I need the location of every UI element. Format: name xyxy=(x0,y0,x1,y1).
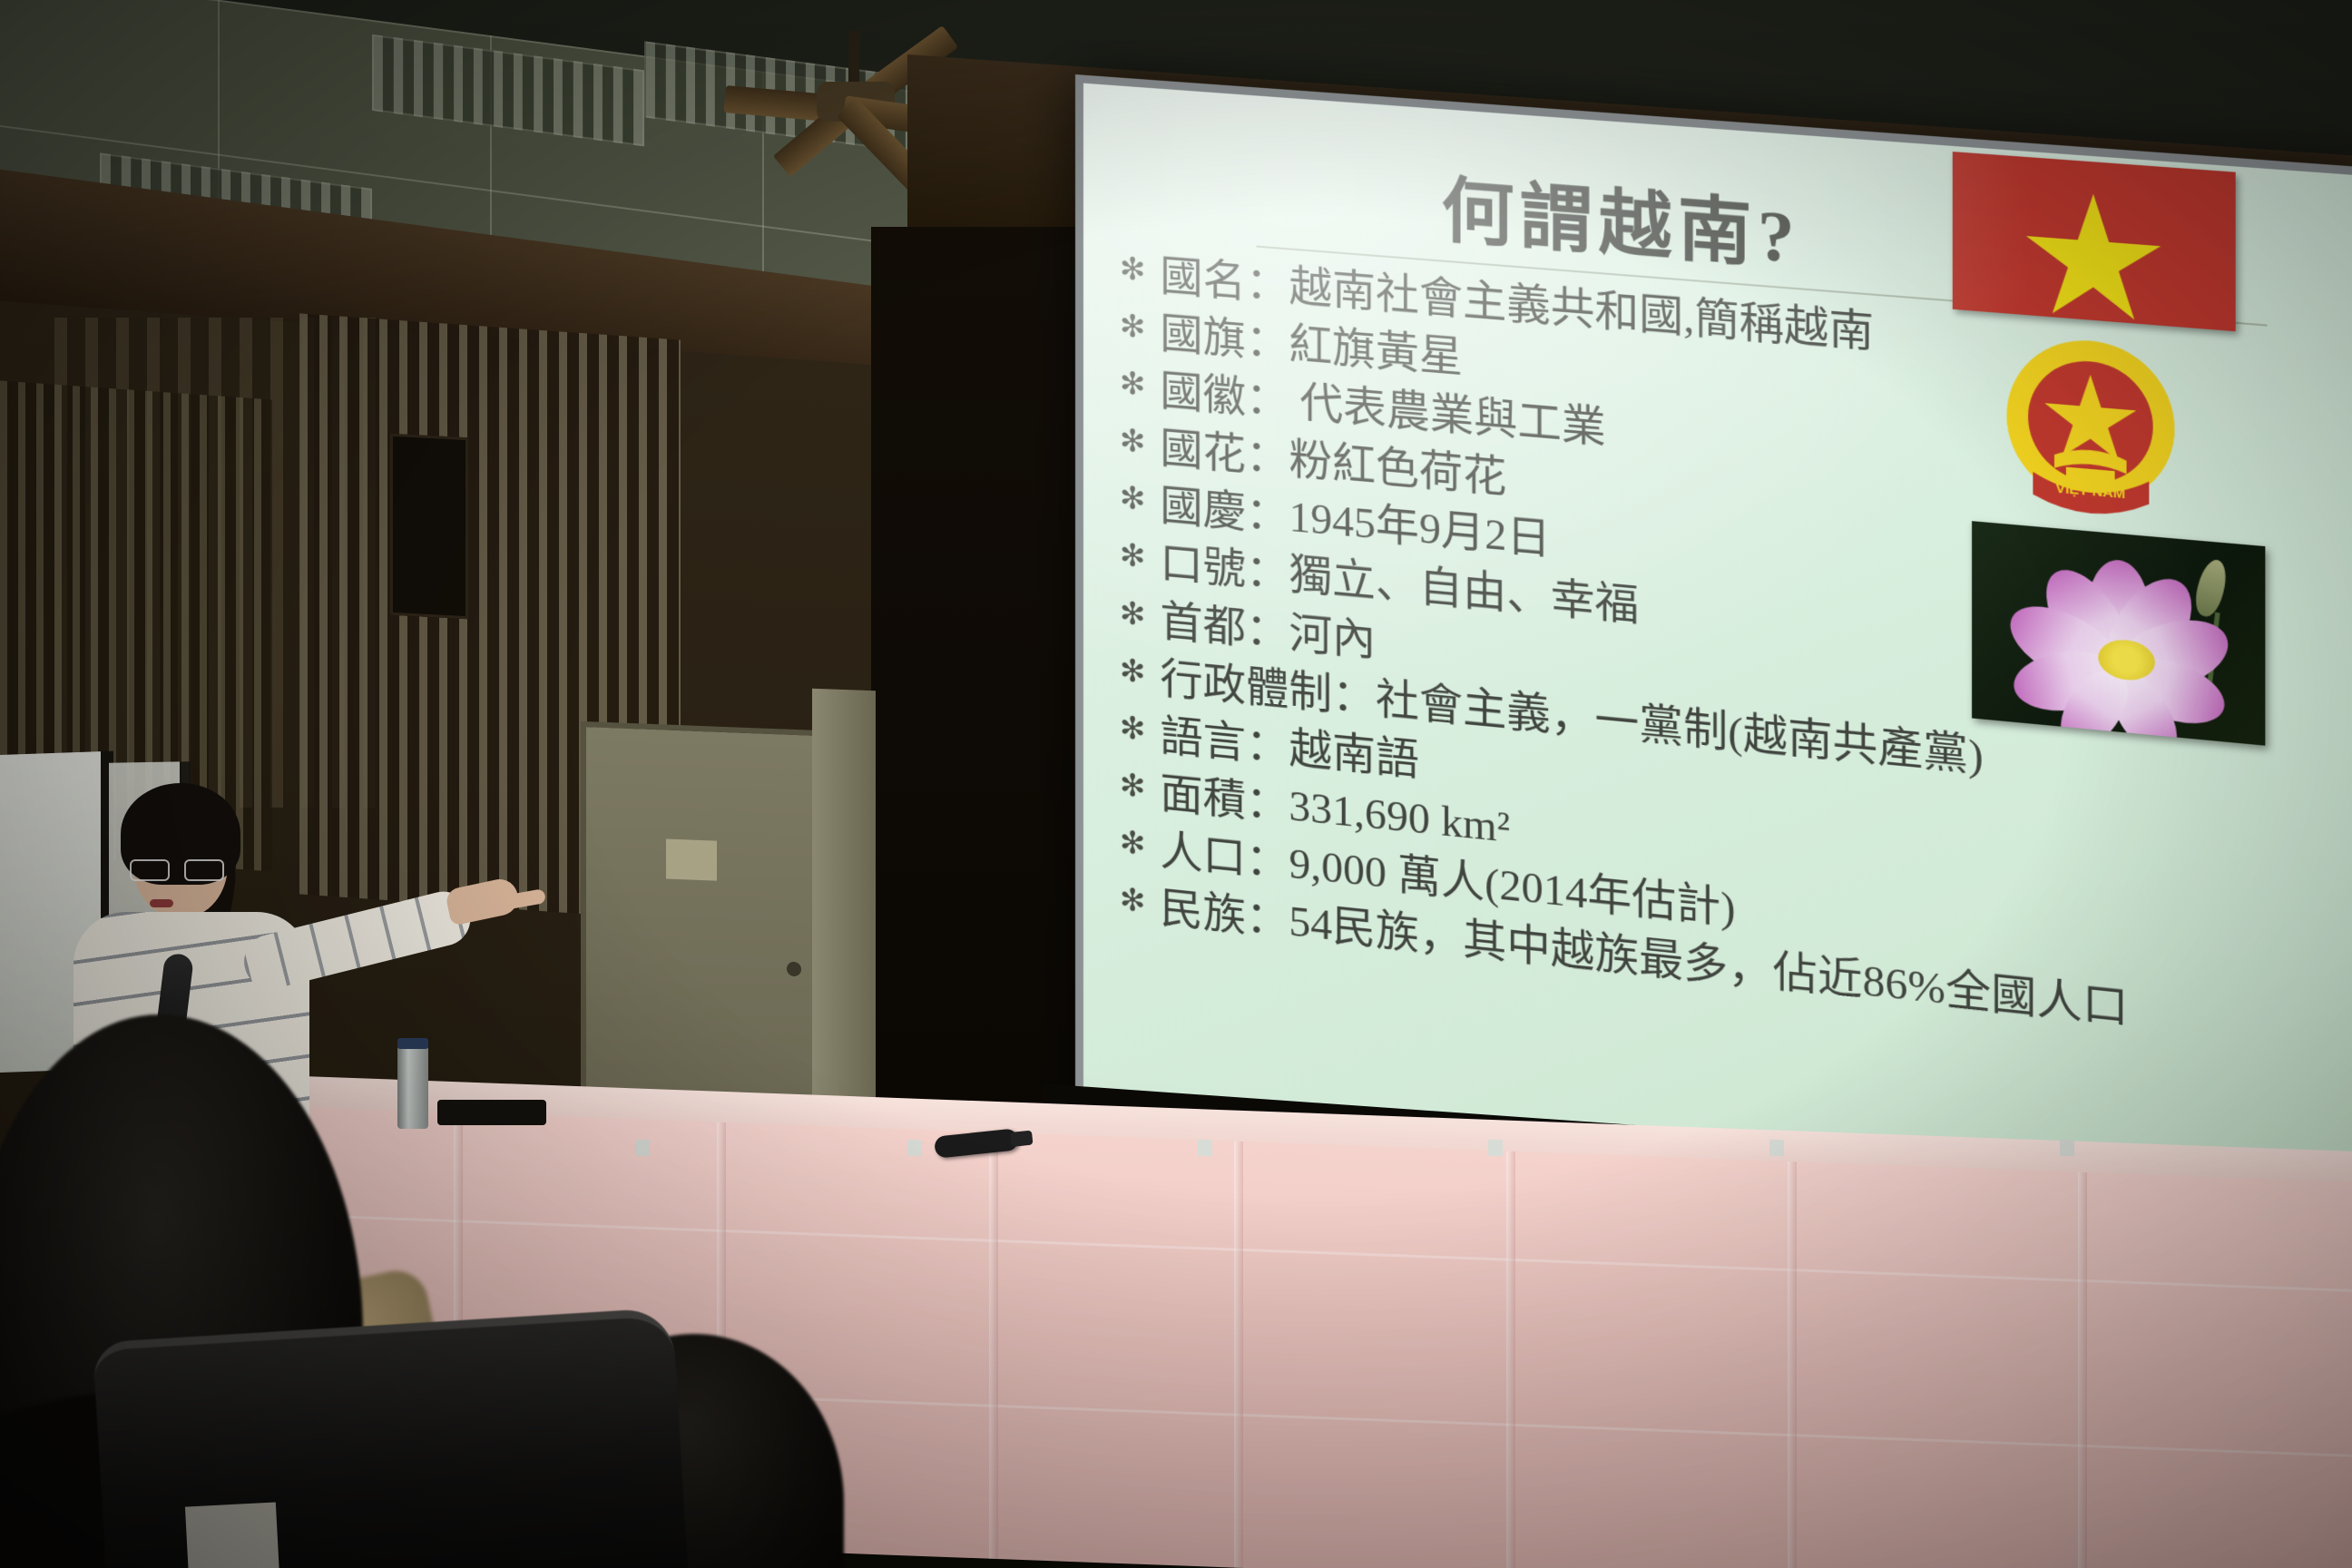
bullet-icon: ✻ xyxy=(1120,417,1146,467)
bullet-icon: ✻ xyxy=(1120,590,1146,640)
presenter-pointing-arm xyxy=(239,886,476,995)
lecture-hall-photo: 何謂越南? ✻國名：越南社會主義共和國,簡稱越南 ✻國旗：紅旗黃星 ✻國徽： 代… xyxy=(0,0,2352,1568)
vietnam-emblem-image: VIỆT NAM xyxy=(1986,327,2196,533)
side-door[interactable] xyxy=(581,721,821,1130)
bullet-icon: ✻ xyxy=(1120,762,1146,813)
door-knob-icon[interactable] xyxy=(787,962,801,977)
wall-speaker-icon xyxy=(390,434,468,620)
bullet-icon: ✻ xyxy=(1120,819,1146,870)
bullet-icon: ✻ xyxy=(1120,533,1146,583)
chair-seat-label xyxy=(185,1502,279,1568)
emblem-icon: VIỆT NAM xyxy=(1986,327,2196,533)
vietnam-flag-image xyxy=(1953,152,2236,331)
door-jamb xyxy=(812,689,876,1144)
lotus-flower-image xyxy=(1972,521,2265,746)
bullet-icon: ✻ xyxy=(1120,647,1146,698)
auditorium-chair xyxy=(93,1308,689,1568)
bullet-icon: ✻ xyxy=(1120,246,1146,296)
presenter-mouth xyxy=(150,899,173,907)
bullet-icon: ✻ xyxy=(1120,877,1146,927)
glasses-icon xyxy=(130,859,231,881)
fan-rod xyxy=(848,31,859,87)
bullet-icon: ✻ xyxy=(1120,704,1146,755)
door-sign xyxy=(666,839,717,881)
bullet-icon: ✻ xyxy=(1120,360,1146,410)
lotus-bud xyxy=(2191,556,2231,620)
bullet-icon: ✻ xyxy=(1120,475,1146,525)
flag-star-icon xyxy=(1953,152,2236,331)
bullet-icon: ✻ xyxy=(1120,303,1146,353)
